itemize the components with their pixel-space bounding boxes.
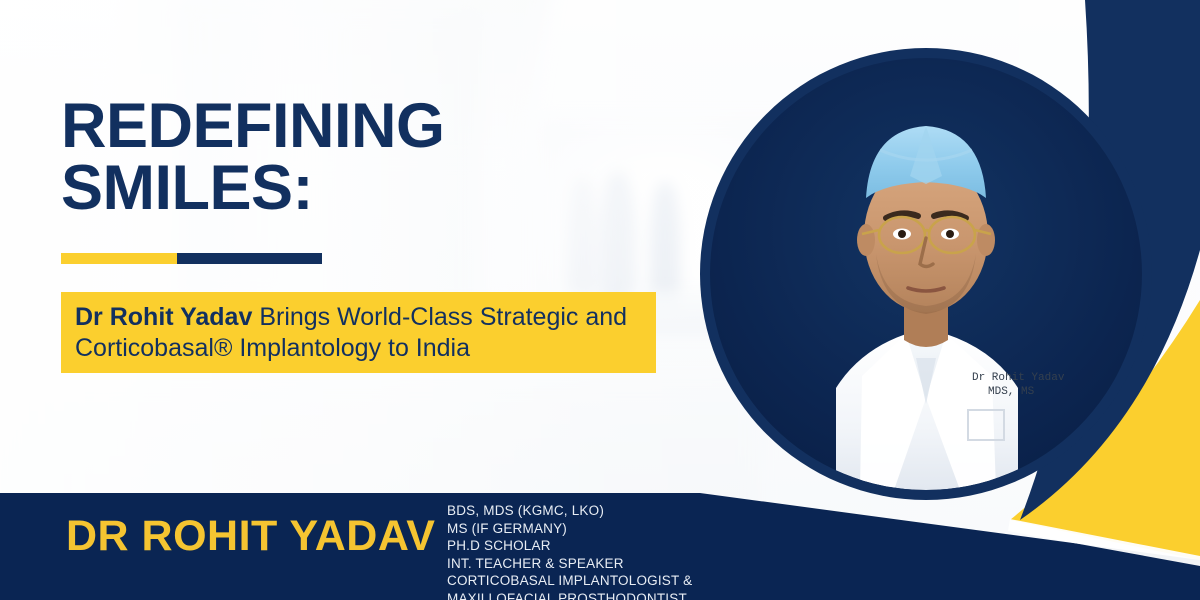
- bottom-bar-content: DR ROHIT YADAV BDS, MDS (KGMC, LKO) MS (…: [0, 493, 1200, 600]
- doctor-illustration: Dr Rohit Yadav MDS, MS: [710, 58, 1142, 490]
- title-underline-rule: [61, 253, 322, 264]
- credential-item: INT. TEACHER & SPEAKER: [447, 555, 692, 573]
- subtitle-lead: Dr Rohit Yadav: [75, 303, 252, 331]
- credential-item: PH.D SCHOLAR: [447, 537, 692, 555]
- portrait-disc-background: Dr Rohit Yadav MDS, MS: [710, 58, 1142, 490]
- subtitle-text: Dr Rohit Yadav Brings World-Class Strate…: [61, 302, 656, 363]
- coat-embroidery-line1: Dr Rohit Yadav: [972, 372, 1065, 384]
- credentials-list: BDS, MDS (KGMC, LKO) MS (IF GERMANY) PH.…: [447, 502, 692, 600]
- subtitle-highlight-box: Dr Rohit Yadav Brings World-Class Strate…: [61, 292, 656, 373]
- credential-item: CORTICOBASAL IMPLANTOLOGIST &: [447, 572, 692, 590]
- underline-segment-yellow: [61, 253, 177, 264]
- promotional-banner: REDEFINING SMILES: Dr Rohit Yadav Brings…: [0, 0, 1200, 600]
- credential-item: BDS, MDS (KGMC, LKO): [447, 502, 692, 520]
- doctor-name: DR ROHIT YADAV: [66, 515, 435, 558]
- credential-item: MAXILLOFACIAL PROSTHODONTIST: [447, 590, 692, 600]
- credential-item: MS (IF GERMANY): [447, 520, 692, 538]
- underline-segment-navy: [177, 253, 322, 264]
- page-title: REDEFINING SMILES:: [61, 96, 445, 219]
- doctor-portrait: Dr Rohit Yadav MDS, MS: [700, 48, 1152, 500]
- coat-embroidery-line2: MDS, MS: [988, 386, 1035, 398]
